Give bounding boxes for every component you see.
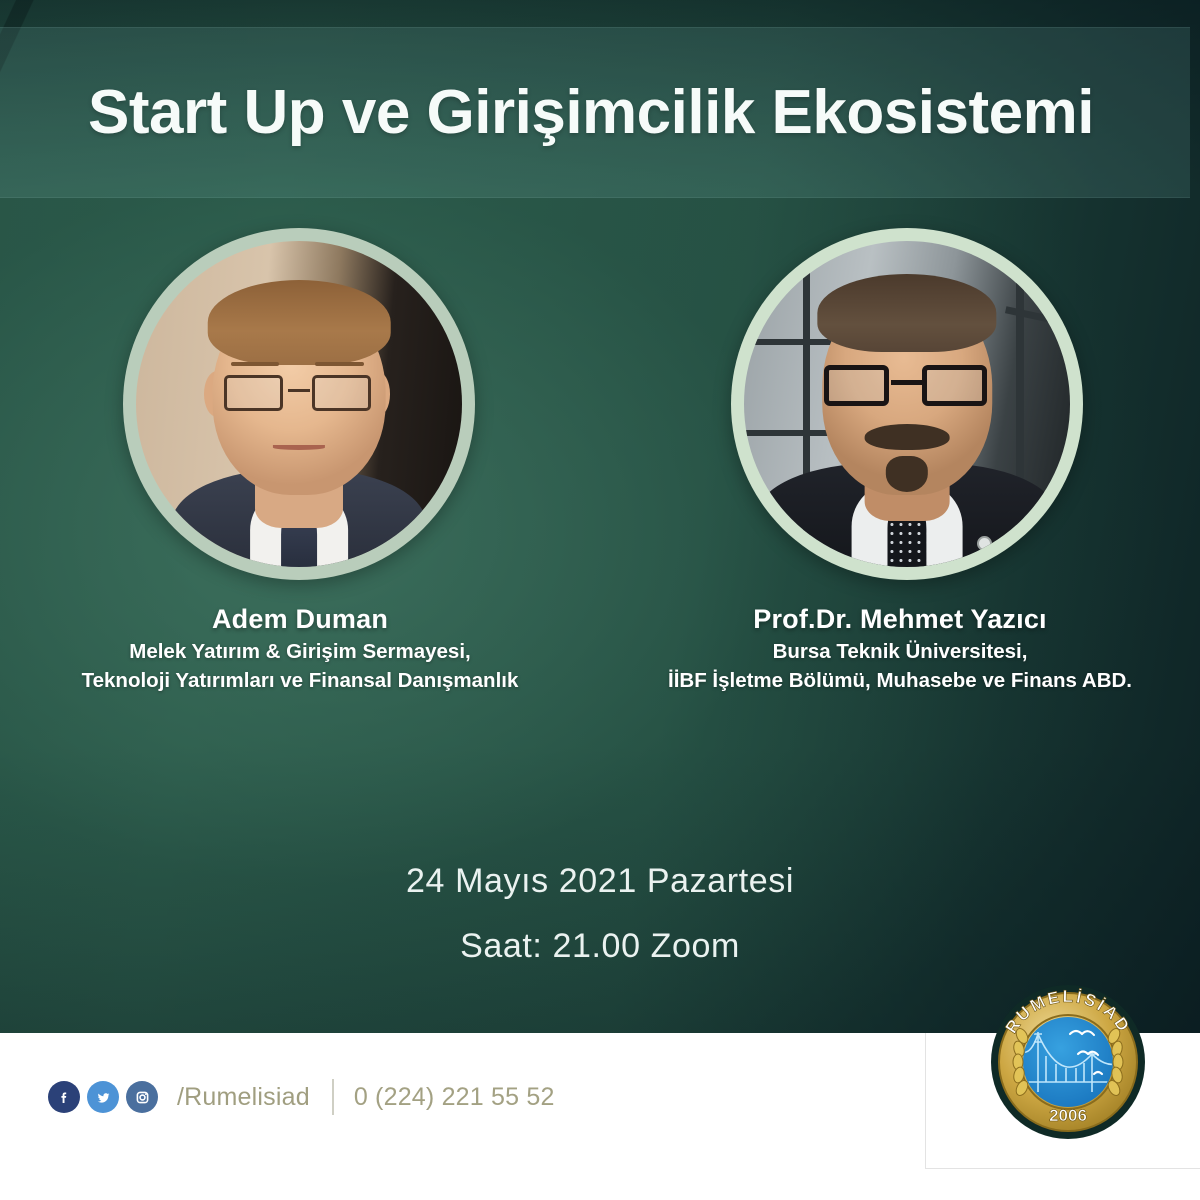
speaker-name: Adem Duman	[82, 604, 519, 635]
speaker-photo-ring	[123, 228, 475, 580]
speaker-caption: Prof.Dr. Mehmet Yazıcı Bursa Teknik Üniv…	[668, 580, 1132, 693]
event-date: 24 Mayıs 2021 Pazartesi	[0, 862, 1200, 901]
twitter-icon[interactable]	[87, 1081, 119, 1113]
speaker-role-line-2: Teknoloji Yatırımları ve Finansal Danışm…	[82, 669, 519, 693]
speaker-role-line-1: Melek Yatırım & Girişim Sermayesi,	[82, 640, 519, 664]
event-time: Saat: 21.00 Zoom	[0, 927, 1200, 966]
speaker-card-mehmet-yazici: Prof.Dr. Mehmet Yazıcı Bursa Teknik Üniv…	[600, 228, 1200, 693]
social-handle[interactable]: /Rumelisiad	[177, 1083, 310, 1112]
speakers-section: Adem Duman Melek Yatırım & Girişim Serma…	[0, 228, 1200, 693]
rumelisiad-logo: RUMELİSİAD 2006	[978, 970, 1158, 1150]
speaker-card-adem-duman: Adem Duman Melek Yatırım & Girişim Serma…	[0, 228, 600, 693]
speaker-role-line-1: Bursa Teknik Üniversitesi,	[668, 640, 1132, 664]
page-title: Start Up ve Girişimcilik Ekosistemi	[0, 82, 1190, 144]
event-poster: Start Up ve Girişimcilik Ekosistemi	[0, 0, 1200, 1200]
avatar	[136, 241, 462, 567]
event-details: 24 Mayıs 2021 Pazartesi Saat: 21.00 Zoom	[0, 862, 1200, 966]
logo-year-text: 2006	[1049, 1106, 1087, 1125]
avatar	[744, 241, 1070, 567]
title-band: Start Up ve Girişimcilik Ekosistemi	[0, 27, 1190, 198]
speaker-photo-ring	[731, 228, 1083, 580]
speaker-role-line-2: İİBF İşletme Bölümü, Muhasebe ve Finans …	[668, 669, 1132, 693]
phone-number[interactable]: 0 (224) 221 55 52	[354, 1083, 555, 1112]
speaker-caption: Adem Duman Melek Yatırım & Girişim Serma…	[82, 580, 519, 693]
footer-contact-row: /Rumelisiad 0 (224) 221 55 52	[48, 1079, 555, 1115]
instagram-icon[interactable]	[126, 1081, 158, 1113]
footer-divider	[332, 1079, 334, 1115]
speaker-name: Prof.Dr. Mehmet Yazıcı	[668, 604, 1132, 635]
facebook-icon[interactable]	[48, 1081, 80, 1113]
